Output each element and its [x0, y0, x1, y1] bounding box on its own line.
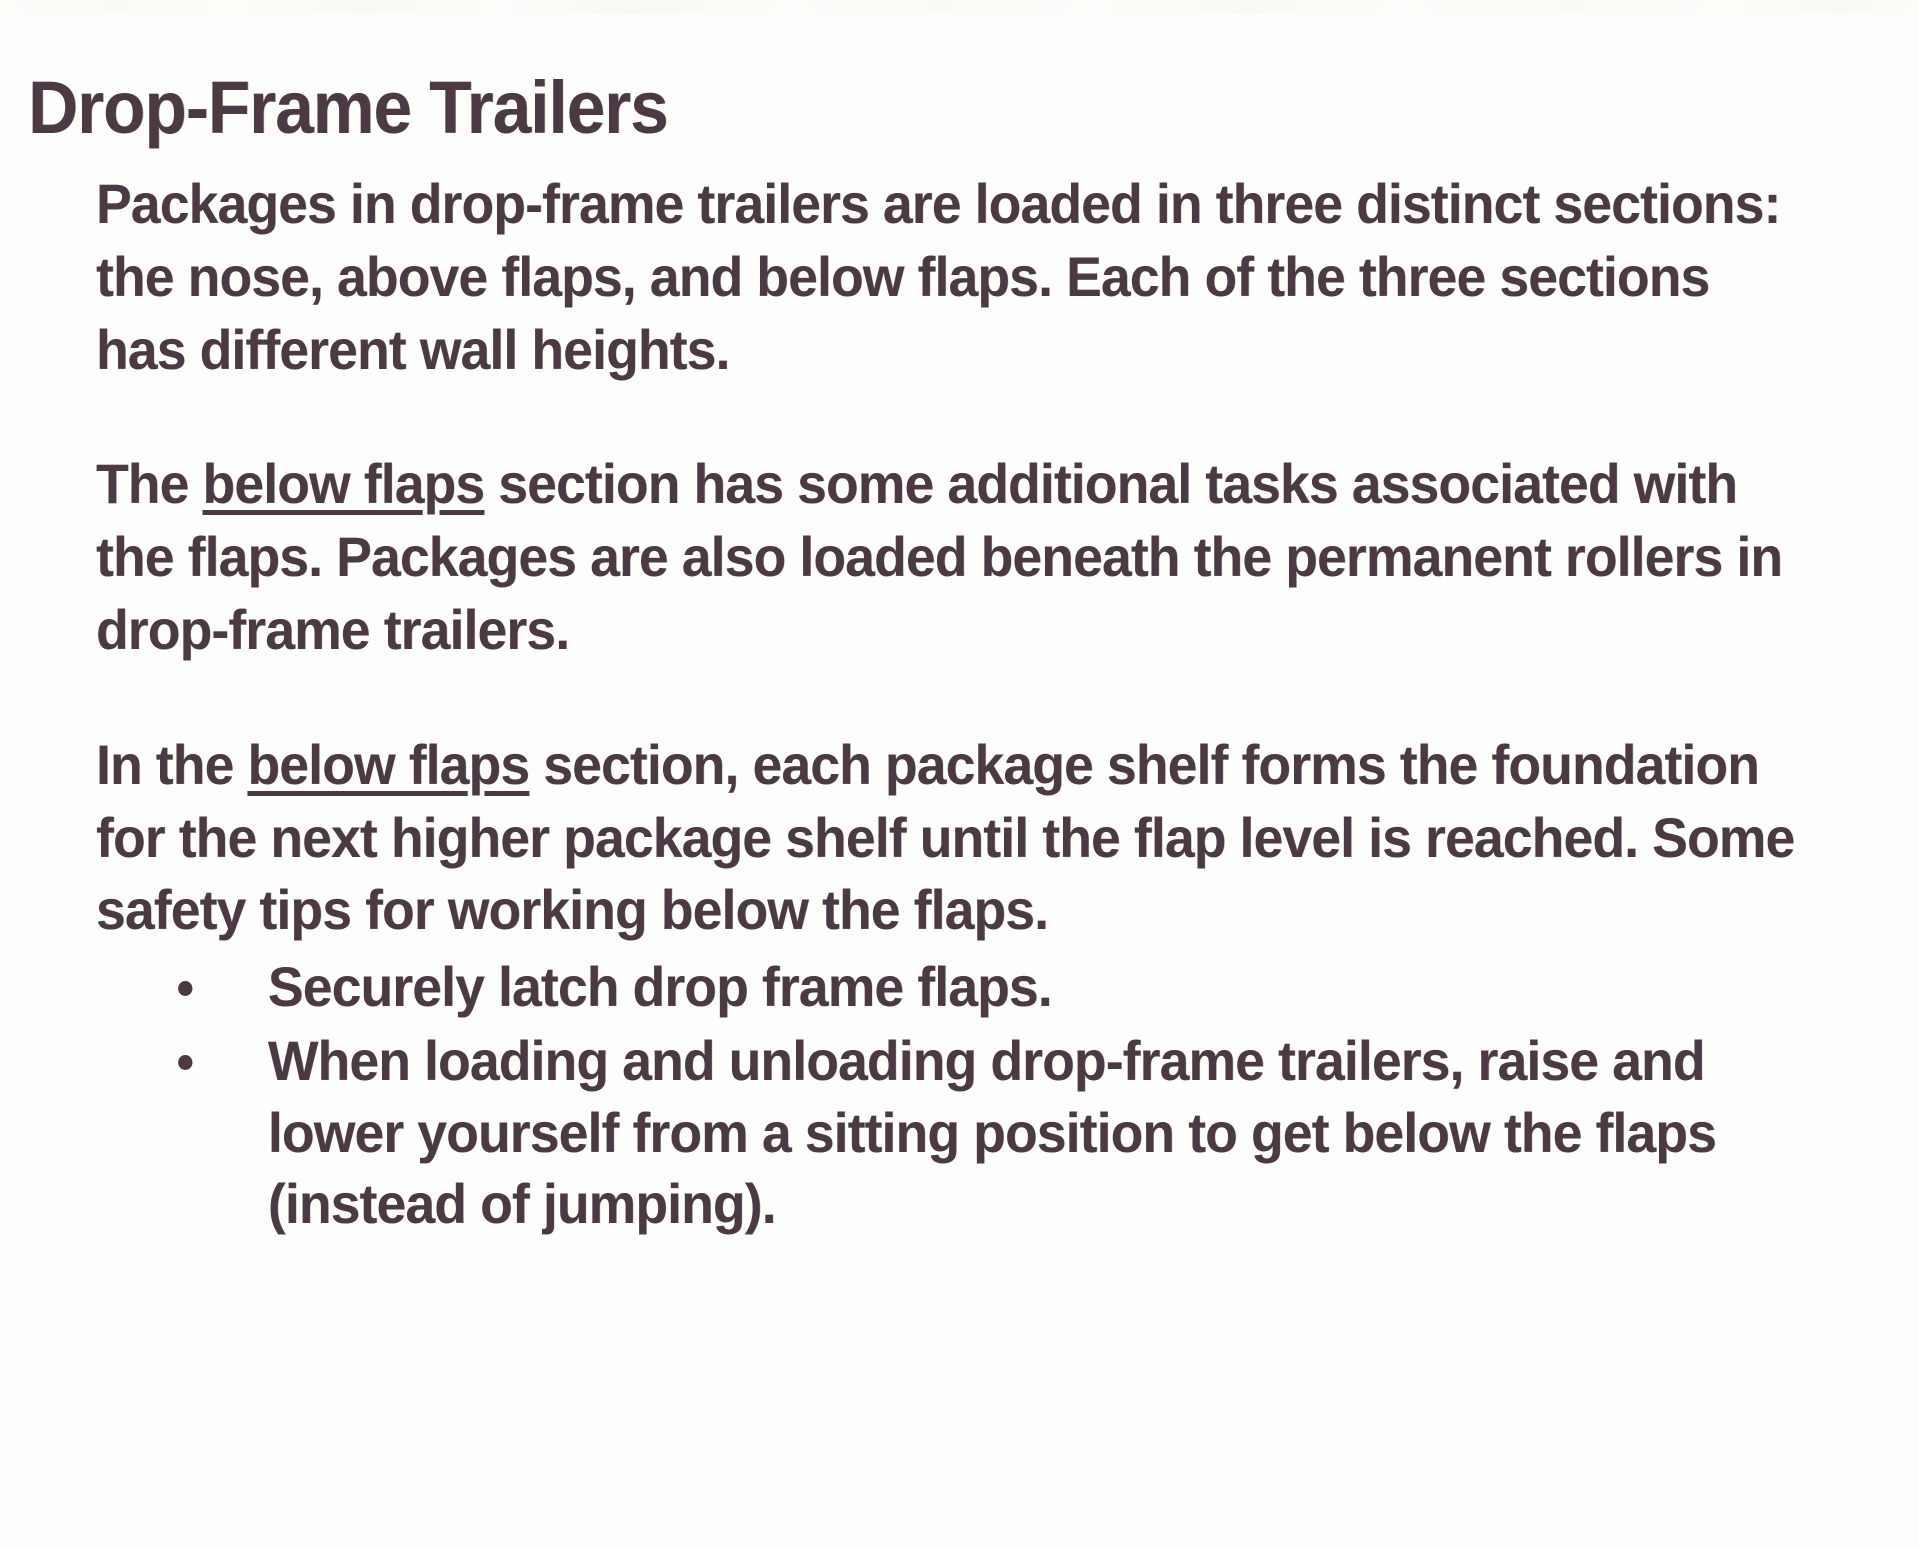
list-item-label: Securely latch drop frame flaps.: [268, 955, 1052, 1018]
list-item: When loading and unloading drop-frame tr…: [96, 1025, 1805, 1240]
paragraph-intro: Packages in drop-frame trailers are load…: [96, 168, 1805, 386]
safety-tips-list: Securely latch drop frame flaps. When lo…: [96, 951, 1886, 1240]
bullet-dot-icon: [178, 1055, 192, 1070]
bullet-dot-icon: [178, 981, 192, 996]
paragraph-lead-text: The: [96, 452, 203, 515]
emphasis-below-flaps: below flaps: [203, 452, 485, 515]
list-item: Securely latch drop frame flaps.: [96, 951, 1805, 1023]
paragraph-below-flaps-tasks: The below flaps section has some additio…: [96, 448, 1805, 666]
list-item-label: When loading and unloading drop-frame tr…: [268, 1029, 1716, 1235]
document-page: Drop-Frame Trailers Packages in drop-fra…: [0, 0, 1919, 1548]
document-body: Packages in drop-frame trailers are load…: [96, 168, 1886, 1242]
emphasis-below-flaps: below flaps: [247, 733, 529, 796]
paragraph-lead-text: In the: [96, 733, 247, 796]
page-title: Drop-Frame Trailers: [28, 70, 668, 145]
paragraph-below-flaps-shelves: In the below flaps section, each package…: [96, 729, 1805, 947]
